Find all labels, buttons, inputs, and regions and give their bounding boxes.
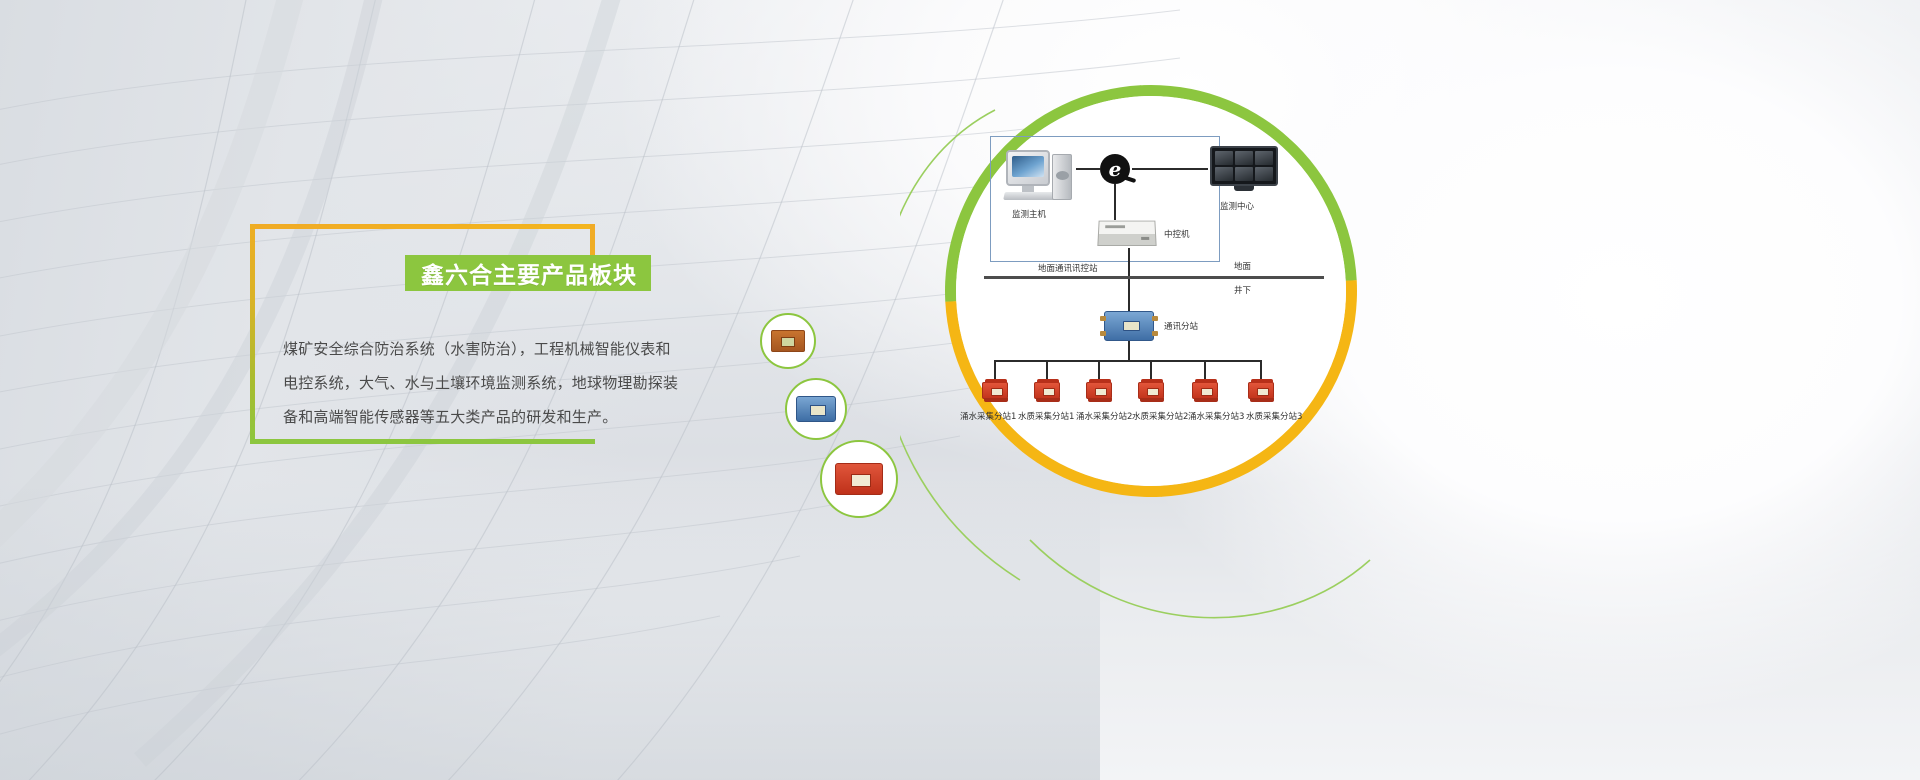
system-diagram: 监测主机 e 监测中心 中控机 地面通讯讯控站 地面 井下: [900, 40, 1920, 780]
monitor-icon: [1006, 150, 1050, 186]
network-topology: 监测主机 e 监测中心 中控机 地面通讯讯控站 地面 井下: [972, 128, 1342, 458]
lead-paragraph: 煤矿安全综合防治系统（水害防治），工程机械智能仪表和 电控系统，大气、水与土壤环…: [283, 332, 713, 434]
keyboard-icon: [1003, 192, 1057, 200]
frame-border-top: [250, 224, 595, 229]
station-device-2: [1034, 382, 1060, 399]
label-ground: 地面: [1234, 260, 1251, 272]
link-cloud-to-center: [1132, 168, 1208, 170]
ground-divider-line: [984, 276, 1324, 279]
server-icon: [1097, 221, 1156, 246]
label-central-control: 中控机: [1164, 228, 1190, 240]
video-wall-icon: [1210, 146, 1278, 186]
paragraph-line-2: 电控系统，大气、水与土壤环境监测系统，地球物理勘探装: [283, 366, 713, 400]
label-station-4: 水质采集分站2: [1132, 410, 1188, 422]
network-cloud-icon: e: [1100, 154, 1130, 184]
bus-horizontal: [994, 360, 1262, 362]
collector-icon: [835, 463, 883, 495]
station-device-3: [1086, 382, 1112, 399]
bus-drop: [1128, 341, 1130, 361]
station-device-5: [1192, 382, 1218, 399]
station-device-1: [982, 382, 1008, 399]
link-host-to-cloud: [1076, 168, 1100, 170]
station-device-6: [1248, 382, 1274, 399]
label-monitor-host: 监测主机: [1012, 208, 1046, 220]
monitor-host-device: [1006, 150, 1076, 202]
frame-border-bottom: [250, 439, 595, 444]
station-device-4: [1138, 382, 1164, 399]
pc-tower-icon: [1052, 154, 1072, 200]
link-cloud-to-server: [1114, 184, 1116, 220]
label-underground: 井下: [1234, 284, 1251, 296]
label-station-5: 涌水采集分站3: [1188, 410, 1244, 422]
product-bubble-substation[interactable]: [785, 378, 847, 440]
section-title-banner: 鑫六合主要产品板块: [405, 255, 651, 291]
link-ground-to-substation: [1128, 279, 1130, 311]
product-bubble-sensor[interactable]: [760, 313, 816, 369]
central-control-device: [1098, 220, 1158, 248]
sensor-icon: [771, 330, 805, 352]
frame-border-left: [250, 224, 255, 444]
comm-substation-device: [1104, 311, 1154, 341]
paragraph-line-3: 备和高端智能传感器等五大类产品的研发和生产。: [283, 400, 713, 434]
label-station-1: 涌水采集分站1: [960, 410, 1016, 422]
label-ground-comm-station: 地面通讯讯控站: [1038, 262, 1098, 274]
page-title: 鑫六合主要产品板块: [421, 256, 637, 290]
label-comm-substation: 通讯分站: [1164, 320, 1198, 332]
label-station-6: 水质采集分站3: [1246, 410, 1302, 422]
product-bubble-collector[interactable]: [820, 440, 898, 518]
substation-icon: [796, 396, 836, 422]
video-wall-stand: [1234, 186, 1254, 191]
label-monitor-center: 监测中心: [1220, 200, 1254, 212]
monitor-center-device: [1210, 146, 1282, 192]
paragraph-line-1: 煤矿安全综合防治系统（水害防治），工程机械智能仪表和: [283, 332, 713, 366]
label-station-3: 涌水采集分站2: [1076, 410, 1132, 422]
label-station-2: 水质采集分站1: [1018, 410, 1074, 422]
link-server-down: [1128, 248, 1130, 276]
